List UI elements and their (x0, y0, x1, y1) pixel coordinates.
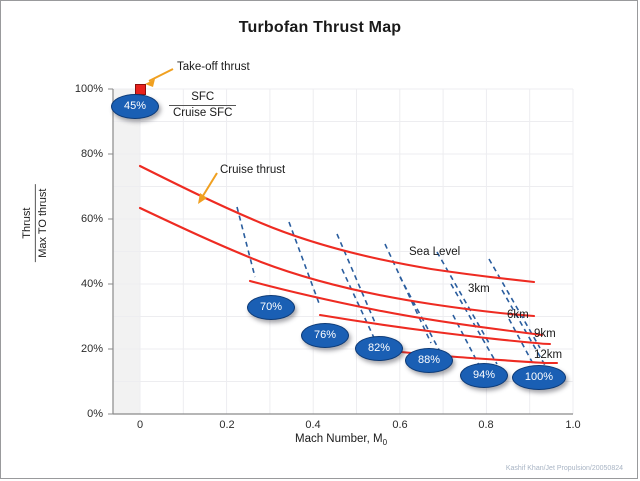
y-tick-40: 40% (59, 278, 103, 290)
sfc-denominator: Cruise SFC (169, 107, 236, 120)
y-tick-80: 80% (59, 148, 103, 160)
y-axis-fraction: Thrust Max TO thrust (21, 185, 49, 262)
takeoff-arrow (145, 69, 173, 87)
y-tick-marks (108, 89, 113, 414)
curve-label-sea-level: Sea Level (409, 246, 460, 258)
takeoff-annotation: Take-off thrust (177, 61, 250, 73)
curve-sea-level (140, 166, 534, 282)
sfc-badge-82: 82% (355, 336, 403, 361)
sfc-badge-88: 88% (405, 348, 453, 373)
y-axis-numerator: Thrust (21, 185, 34, 262)
y-tick-0: 0% (59, 408, 103, 420)
sfc-numerator: SFC (169, 91, 236, 104)
curve-label-9km: 9km (534, 328, 556, 340)
y-axis-title: Thrust Max TO thrust (21, 163, 49, 283)
gridlines (113, 89, 573, 414)
curve-label-3km: 3km (468, 283, 490, 295)
curve-label-6km: 6km (507, 309, 529, 321)
x-axis-title-text: Mach Number, (295, 433, 373, 445)
sfc-badge-45: 45% (111, 94, 159, 119)
curve-3km (140, 208, 534, 316)
sfc-badge-100: 100% (512, 365, 566, 390)
y-tick-20: 20% (59, 343, 103, 355)
x-axis-subscript: 0 (383, 438, 387, 447)
chart-figure: Turbofan Thrust Map (0, 0, 638, 479)
x-tick-0.2: 0.2 (207, 419, 247, 431)
sfc-badge-70: 70% (247, 295, 295, 320)
sfc-badge-94: 94% (460, 363, 508, 388)
x-tick-0.6: 0.6 (380, 419, 420, 431)
sfc-fraction: SFC Cruise SFC (169, 91, 236, 120)
x-tick-1.0: 1.0 (553, 419, 593, 431)
cruise-annotation: Cruise thrust (220, 164, 285, 176)
x-axis-symbol: M (373, 433, 383, 445)
sfc-fraction-bar (169, 105, 236, 106)
sfc-legend: SFC Cruise SFC (169, 91, 236, 120)
watermark: Kashif Khan/Jet Propulsion/20050824 (506, 465, 623, 472)
x-tick-0.8: 0.8 (466, 419, 506, 431)
sfc-badge-76: 76% (301, 323, 349, 348)
curve-label-12km: 12km (534, 349, 562, 361)
y-tick-100: 100% (59, 83, 103, 95)
fraction-bar (35, 185, 36, 262)
y-tick-60: 60% (59, 213, 103, 225)
x-tick-0: 0 (120, 419, 160, 431)
x-axis-title: Mach Number, M0 (181, 433, 501, 445)
x-tick-0.4: 0.4 (293, 419, 333, 431)
y-axis-denominator: Max TO thrust (37, 185, 50, 262)
